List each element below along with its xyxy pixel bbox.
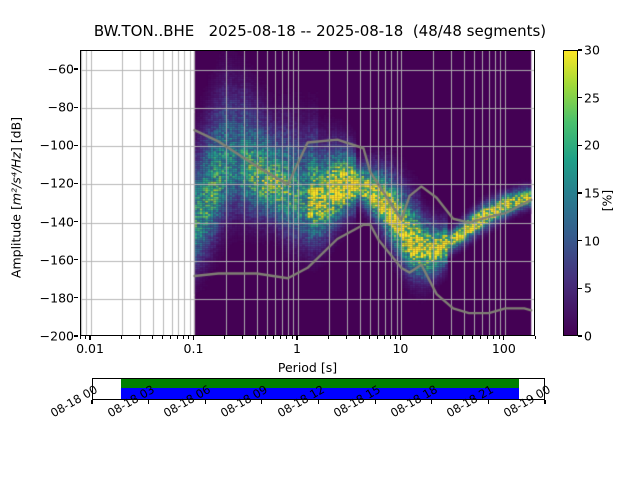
x-minor-tick-mark: [431, 336, 432, 339]
y-axis-label: Amplitude [m²/s⁴/Hz] [dB]: [9, 88, 24, 308]
y-tick-mark: [74, 183, 78, 184]
y-tick-label: −100: [40, 138, 74, 153]
x-minor-tick-mark: [377, 336, 378, 339]
timeline-tick-mark: [91, 400, 92, 404]
x-tick-label: 0.1: [184, 341, 204, 356]
colorbar-tick-label: 20: [584, 138, 600, 153]
timeline-tick-mark: [205, 400, 206, 404]
y-tick-mark: [74, 297, 78, 298]
x-minor-tick-mark: [242, 336, 243, 339]
x-minor-tick-mark: [346, 336, 347, 339]
colorbar-tick-mark: [578, 192, 582, 193]
colorbar-tick-mark: [578, 240, 582, 241]
colorbar-tick-mark: [578, 145, 582, 146]
x-minor-tick-mark: [472, 336, 473, 339]
x-tick-mark: [89, 336, 90, 340]
y-tick-mark: [74, 221, 78, 222]
colorbar-tick-label: 30: [584, 43, 600, 58]
x-minor-tick-mark: [395, 336, 396, 339]
x-minor-tick-mark: [255, 336, 256, 339]
x-tick-mark: [503, 336, 504, 340]
x-minor-tick-mark: [449, 336, 450, 339]
colorbar-tick-label: 5: [584, 281, 592, 296]
x-minor-tick-mark: [273, 336, 274, 339]
x-minor-tick-mark: [487, 336, 488, 339]
ppsd-figure: BW.TON..BHE 2025-08-18 -- 2025-08-18 (48…: [0, 0, 640, 480]
y-tick-mark: [74, 145, 78, 146]
x-tick-label: 100: [492, 341, 516, 356]
x-minor-tick-mark: [493, 336, 494, 339]
x-minor-tick-mark: [139, 336, 140, 339]
timeline-tick-mark: [261, 400, 262, 404]
x-minor-tick-mark: [162, 336, 163, 339]
y-tick-label: −80: [48, 100, 74, 115]
y-axis-label-prefix: Amplitude [: [9, 205, 24, 278]
x-tick-label: 1: [293, 341, 301, 356]
x-minor-tick-mark: [188, 336, 189, 339]
x-minor-tick-mark: [265, 336, 266, 339]
x-minor-tick-mark: [369, 336, 370, 339]
x-minor-tick-mark: [80, 336, 81, 339]
y-tick-mark: [74, 335, 78, 336]
x-axis-label: Period [s]: [0, 360, 615, 375]
y-tick-label: −180: [40, 290, 74, 305]
timeline-tick-mark: [148, 400, 149, 404]
y-tick-mark: [74, 107, 78, 108]
y-tick-mark: [74, 68, 78, 69]
x-minor-tick-mark: [177, 336, 178, 339]
y-tick-label: −120: [40, 176, 74, 191]
colorbar-tick-label: 25: [584, 90, 600, 105]
y-axis-label-units: m²/s⁴/Hz: [9, 152, 24, 205]
y-tick-label: −140: [40, 214, 74, 229]
colorbar-label: [%]: [600, 156, 615, 246]
x-minor-tick-mark: [286, 336, 287, 339]
y-tick-label: −60: [48, 62, 74, 77]
y-tick-label: −200: [40, 329, 74, 344]
colorbar-tick-mark: [578, 288, 582, 289]
x-minor-tick-mark: [152, 336, 153, 339]
x-minor-tick-mark: [535, 336, 536, 339]
x-minor-tick-mark: [170, 336, 171, 339]
colorbar-tick-label: 15: [584, 186, 600, 201]
timeline-tick-mark: [375, 400, 376, 404]
timeline-tick-mark: [318, 400, 319, 404]
x-minor-tick-mark: [328, 336, 329, 339]
x-minor-tick-mark: [384, 336, 385, 339]
x-minor-tick-mark: [462, 336, 463, 339]
x-minor-tick-mark: [121, 336, 122, 339]
x-minor-tick-mark: [499, 336, 500, 339]
noise-model-curves: [81, 51, 535, 336]
timeline-tick-mark: [431, 400, 432, 404]
x-tick-mark: [296, 336, 297, 340]
timeline-tick-mark: [544, 400, 545, 404]
ppsd-axes[interactable]: [80, 50, 535, 336]
timeline-tick-mark: [488, 400, 489, 404]
y-tick-label: −160: [40, 252, 74, 267]
colorbar-tick-mark: [578, 49, 582, 50]
x-minor-tick-mark: [224, 336, 225, 339]
x-minor-tick-mark: [280, 336, 281, 339]
x-minor-tick-mark: [359, 336, 360, 339]
x-tick-mark: [400, 336, 401, 340]
x-minor-tick-mark: [292, 336, 293, 339]
x-minor-tick-mark: [85, 336, 86, 339]
colorbar-tick-label: 0: [584, 329, 592, 344]
x-tick-label: 10: [392, 341, 408, 356]
colorbar[interactable]: [563, 50, 578, 336]
colorbar-tick-mark: [578, 97, 582, 98]
x-minor-tick-mark: [390, 336, 391, 339]
x-minor-tick-mark: [183, 336, 184, 339]
x-tick-mark: [193, 336, 194, 340]
colorbar-tick-mark: [578, 335, 582, 336]
y-axis-label-suffix: ] [dB]: [9, 117, 24, 152]
y-tick-mark: [74, 259, 78, 260]
colorbar-tick-label: 10: [584, 233, 600, 248]
x-minor-tick-mark: [480, 336, 481, 339]
plot-title: BW.TON..BHE 2025-08-18 -- 2025-08-18 (48…: [0, 22, 640, 40]
x-tick-label: 0.01: [76, 341, 104, 356]
